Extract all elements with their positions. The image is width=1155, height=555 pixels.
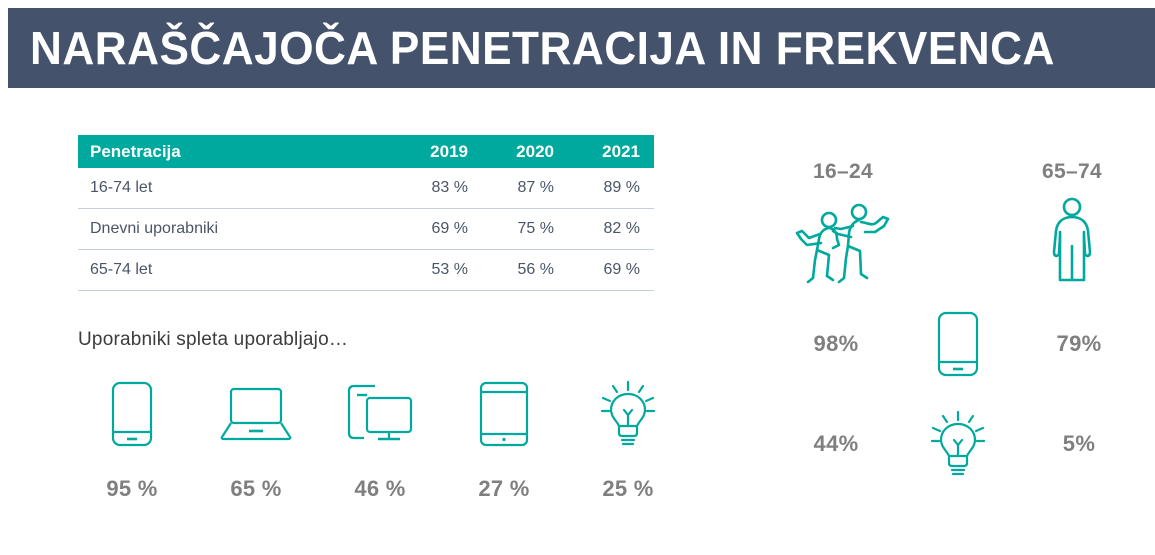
device-item-lightbulb: 25 % [566,372,690,502]
table-header-penetracija: Penetracija [78,135,396,168]
page-title: NARAŠČAJOČA PENETRACIJA IN FREKVENCA [30,25,1055,71]
age-stat-row-lightbulb: 44% 5% [770,402,1145,486]
table-header-2019: 2019 [396,135,482,168]
laptop-icon [218,372,294,456]
tablet-icon [479,372,529,456]
age-labels-row: 16–24 65–74 [770,160,1145,184]
cell-2020: 56 % [482,250,568,291]
lightbulb-icon [910,410,1006,478]
age-label-senior: 65–74 [1017,160,1127,184]
device-usage-strip: 95 % 65 % 46 % [70,372,690,502]
stat-value-senior: 79% [1031,331,1127,357]
standing-person-icon [1017,196,1127,286]
stat-value-young: 44% [788,431,884,457]
stat-value-young: 98% [788,331,884,357]
row-label: Dnevni uporabniki [78,209,396,250]
phone-monitor-icon [344,372,416,456]
table-header-row: Penetracija 2019 2020 2021 [78,135,654,168]
penetration-table: Penetracija 2019 2020 2021 16-74 let 83 … [78,135,654,291]
device-item-phone-monitor: 46 % [318,372,442,502]
cell-2021: 69 % [568,250,654,291]
device-value: 27 % [478,476,529,502]
smartphone-icon [910,311,1006,377]
device-item-tablet: 27 % [442,372,566,502]
cell-2021: 89 % [568,168,654,209]
age-label-young: 16–24 [788,160,898,184]
lightbulb-icon [600,372,656,456]
table-row: 16-74 let 83 % 87 % 89 % [78,168,654,209]
cell-2019: 69 % [396,209,482,250]
device-value: 95 % [106,476,157,502]
table-row: 65-74 let 53 % 56 % 69 % [78,250,654,291]
table-header-2021: 2021 [568,135,654,168]
dancing-people-icon [788,198,898,286]
left-content-column: Penetracija 2019 2020 2021 16-74 let 83 … [78,135,678,351]
cell-2020: 87 % [482,168,568,209]
row-label: 65-74 let [78,250,396,291]
age-stat-row-smartphone: 98% 79% [770,302,1145,386]
stat-value-senior: 5% [1031,431,1127,457]
age-figures-row [770,194,1145,286]
age-comparison-panel: 16–24 65–74 [770,160,1145,486]
table-row: Dnevni uporabniki 69 % 75 % 82 % [78,209,654,250]
row-label: 16-74 let [78,168,396,209]
device-value: 25 % [602,476,653,502]
cell-2021: 82 % [568,209,654,250]
cell-2019: 83 % [396,168,482,209]
table-header-2020: 2020 [482,135,568,168]
device-section-subtitle: Uporabniki spleta uporabljajo… [78,329,678,351]
device-value: 65 % [230,476,281,502]
device-item-laptop: 65 % [194,372,318,502]
device-item-smartphone: 95 % [70,372,194,502]
cell-2020: 75 % [482,209,568,250]
device-value: 46 % [354,476,405,502]
cell-2019: 53 % [396,250,482,291]
smartphone-icon [111,372,153,456]
slide-title-banner: NARAŠČAJOČA PENETRACIJA IN FREKVENCA [8,8,1155,88]
